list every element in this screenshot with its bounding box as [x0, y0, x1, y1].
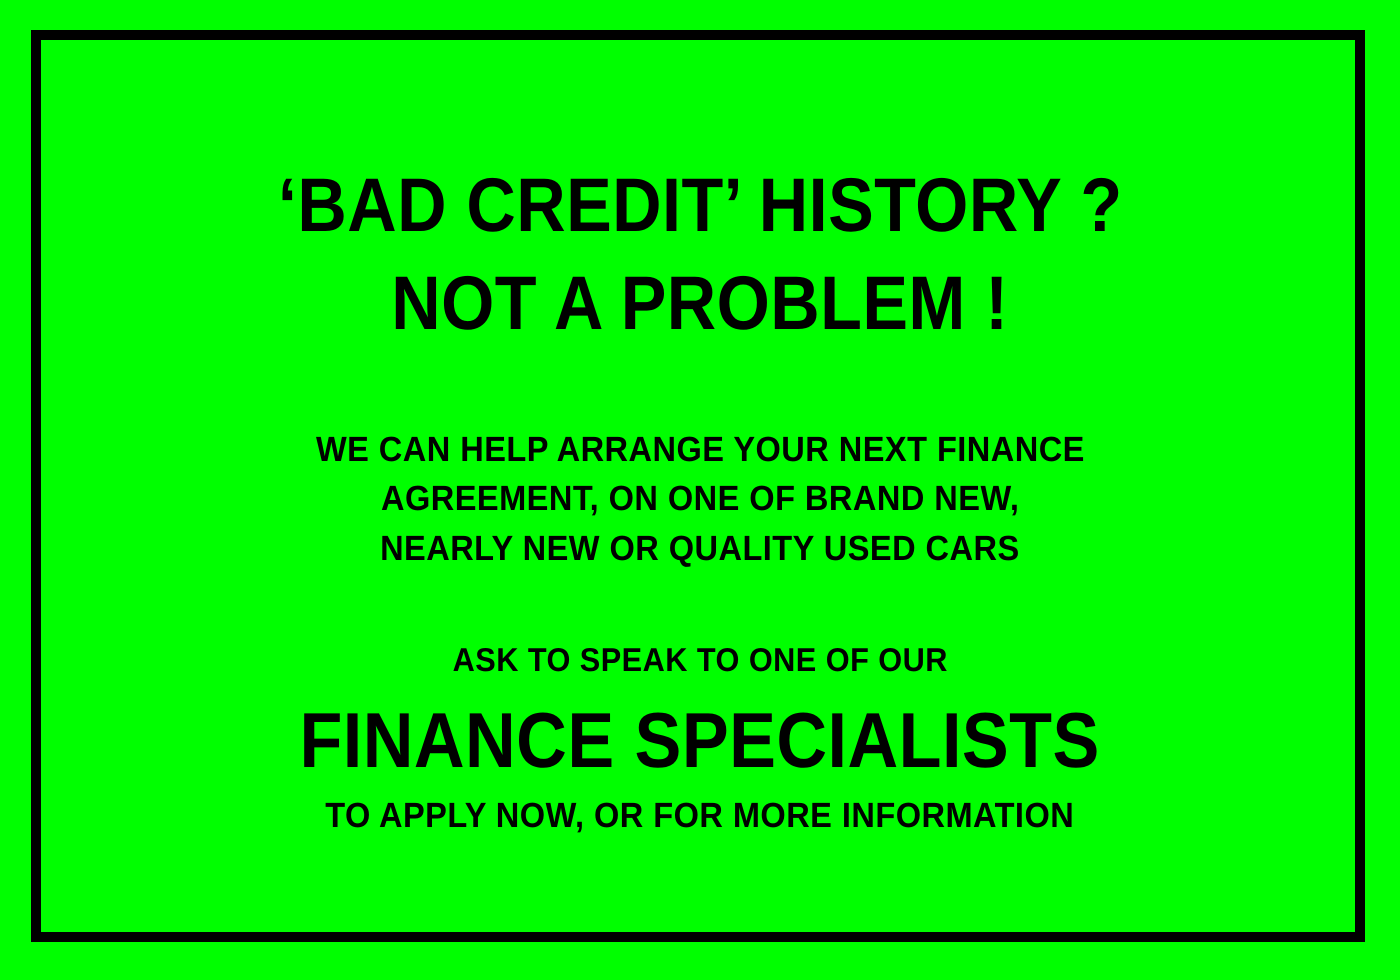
- poster-content: ‘BAD CREDIT’ HISTORY ? NOT A PROBLEM ! W…: [0, 0, 1400, 980]
- headline-line-2: NOT A PROBLEM !: [391, 265, 1008, 343]
- body-paragraph: WE CAN HELP ARRANGE YOUR NEXT FINANCE AG…: [287, 425, 1114, 574]
- body-line-2: AGREEMENT, ON ONE OF BRAND NEW,: [381, 474, 1019, 524]
- headline-line-1: ‘BAD CREDIT’ HISTORY ?: [278, 168, 1123, 243]
- body-line-1: WE CAN HELP ARRANGE YOUR NEXT FINANCE: [316, 425, 1085, 475]
- advertisement-poster: ‘BAD CREDIT’ HISTORY ? NOT A PROBLEM ! W…: [0, 0, 1400, 980]
- cta-outro-line: TO APPLY NOW, OR FOR MORE INFORMATION: [325, 795, 1074, 837]
- cta-intro-line: ASK TO SPEAK TO ONE OF OUR: [452, 640, 947, 680]
- body-line-3: NEARLY NEW OR QUALITY USED CARS: [380, 524, 1020, 574]
- cta-emphasis-line: FINANCE SPECIALISTS: [300, 701, 1100, 779]
